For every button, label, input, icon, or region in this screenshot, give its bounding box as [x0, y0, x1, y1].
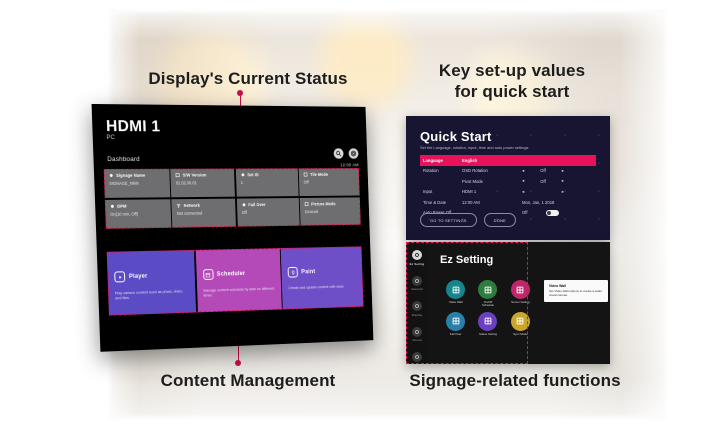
dashboard-clock: 12:00 AM — [340, 162, 359, 167]
tile-value: 02.02.00.01 — [176, 180, 231, 185]
row-key: Rotation — [420, 168, 462, 173]
input-source-title: HDMI 1 — [106, 118, 161, 136]
dashboard-tile[interactable]: Tile ModeOff — [299, 168, 360, 196]
chevron-left-icon[interactable]: ◂ — [522, 189, 524, 195]
tile-value: On(10 min, Off) — [110, 211, 167, 217]
signage-icon — [109, 173, 114, 178]
row-value: English — [462, 158, 522, 163]
toggle-label: Off — [522, 210, 528, 215]
quick-start-panel: Quick Start Set the Language, rotation, … — [406, 116, 610, 240]
chevron-right-icon[interactable]: ▸ — [562, 189, 564, 195]
ez-setting-highlight-outline — [406, 242, 528, 364]
quick-start-row[interactable]: Pivot Mode◂Off▸ — [420, 176, 596, 187]
quick-start-subtitle: Set the Language, rotation, input, time … — [420, 145, 529, 150]
stepper-value: Off — [540, 179, 546, 184]
row-value: HDMI 1 — [462, 189, 522, 194]
dashboard-tile[interactable]: Signage NameSIGNAGE_NNN — [104, 169, 170, 198]
wifi-icon — [177, 203, 182, 208]
background-fade-top — [100, 0, 680, 40]
row-stepper[interactable]: ◂Off▸ — [522, 168, 568, 174]
tile-icon — [303, 172, 308, 177]
chip-icon — [175, 173, 180, 178]
quick-start-settings-table: LanguageEnglishRotationOSD Rotation◂Off▸… — [420, 155, 596, 218]
auto-power-off-toggle[interactable] — [546, 210, 559, 216]
row-stepper[interactable]: ◂Off▸ — [522, 178, 568, 184]
dashboard-tile-grid: Signage NameSIGNAGE_NNNS/W Version02.02.… — [104, 168, 361, 229]
picture-icon — [304, 201, 309, 206]
tile-label: S/W Version — [183, 173, 207, 178]
done-button[interactable]: DONE — [484, 213, 516, 227]
search-icon[interactable] — [334, 148, 344, 158]
tile-label: Picture Mode — [311, 201, 336, 206]
failover-icon — [241, 202, 246, 207]
power-icon — [110, 204, 115, 209]
callout-key-setup-values: Key set-up values for quick start — [404, 60, 620, 103]
background-fade-right — [620, 12, 676, 417]
dashboard-tile[interactable]: DPMOn(10 min, Off) — [105, 199, 171, 229]
callout-display-status: Display's Current Status — [134, 68, 362, 89]
chevron-right-icon[interactable]: ▸ — [562, 168, 564, 174]
callout-content-management: Content Management — [138, 370, 358, 391]
chevron-left-icon[interactable]: ◂ — [522, 168, 524, 174]
tooltip-title: Video Wall — [549, 284, 603, 288]
row-stepper[interactable]: ◂▸ — [522, 189, 568, 195]
dashboard-label: Dashboard — [107, 156, 140, 163]
dashboard-tile[interactable]: NetworkNot connected — [172, 198, 237, 227]
ez-setting-tooltip: Video Wall Set Video Wall options to cre… — [544, 280, 608, 302]
dashboard-tile[interactable]: Picture ModeGeneral — [300, 197, 361, 226]
row-key: Input — [420, 189, 462, 194]
tile-label: Tile Mode — [310, 172, 328, 177]
row-key: Time & Date — [420, 200, 462, 205]
stepper-value: Off — [540, 168, 546, 173]
input-source-subtitle: PC — [106, 135, 115, 141]
chevron-right-icon[interactable]: ▸ — [562, 178, 564, 184]
callout-signage-functions: Signage-related functions — [404, 370, 626, 391]
quick-start-row[interactable]: LanguageEnglish — [420, 155, 596, 166]
row-value: 12:00 AM — [462, 200, 522, 205]
tile-label: Fail Over — [248, 202, 265, 207]
tile-value: Off — [242, 209, 296, 215]
quick-start-row[interactable]: InputHDMI 1◂▸ — [420, 187, 596, 198]
quick-start-title: Quick Start — [420, 129, 492, 144]
dashboard-tile[interactable]: Fail OverOff — [237, 198, 300, 227]
slide-canvas: Display's Current Status Key set-up valu… — [0, 0, 720, 447]
id-icon — [240, 172, 245, 177]
go-to-settings-button[interactable]: GO TO SETTINGS — [420, 213, 477, 227]
content-management-highlight-outline — [107, 246, 364, 315]
tv-screen: HDMI 1 PC Dashboard 12:00 AM Signage Nam… — [92, 104, 374, 352]
dashboard-tile[interactable]: Set ID1 — [236, 168, 299, 197]
signage-display-mockup: HDMI 1 PC Dashboard 12:00 AM Signage Nam… — [92, 104, 374, 352]
row-extra: Mon, Jan, 1 2018 — [522, 200, 596, 205]
tile-value: Not connected — [177, 210, 232, 216]
quick-start-buttons: GO TO SETTINGSDONE — [420, 213, 516, 227]
tile-label: Set ID — [247, 172, 259, 177]
row-value: Pivot Mode — [462, 179, 522, 184]
row-key: Language — [420, 158, 462, 163]
tile-label: DPM — [117, 203, 127, 208]
settings-icon[interactable] — [349, 148, 359, 158]
tile-value: 1 — [241, 180, 295, 185]
tile-value: SIGNAGE_NNN — [109, 181, 166, 186]
dashboard-top-icons — [334, 148, 359, 158]
dashboard-tile[interactable]: S/W Version02.02.00.01 — [171, 169, 236, 198]
tile-label: Network — [184, 203, 200, 208]
quick-start-row[interactable]: RotationOSD Rotation◂Off▸ — [420, 166, 596, 177]
tile-value: Off — [304, 179, 356, 184]
chevron-left-icon[interactable]: ◂ — [522, 178, 524, 184]
tile-label: Signage Name — [116, 173, 145, 178]
quick-start-row[interactable]: Time & Date12:00 AMMon, Jan, 1 2018 — [420, 197, 596, 208]
row-value: OSD Rotation — [462, 168, 522, 173]
tooltip-text: Set Video Wall options to create a wider… — [549, 290, 603, 298]
tile-value: General — [305, 208, 357, 213]
